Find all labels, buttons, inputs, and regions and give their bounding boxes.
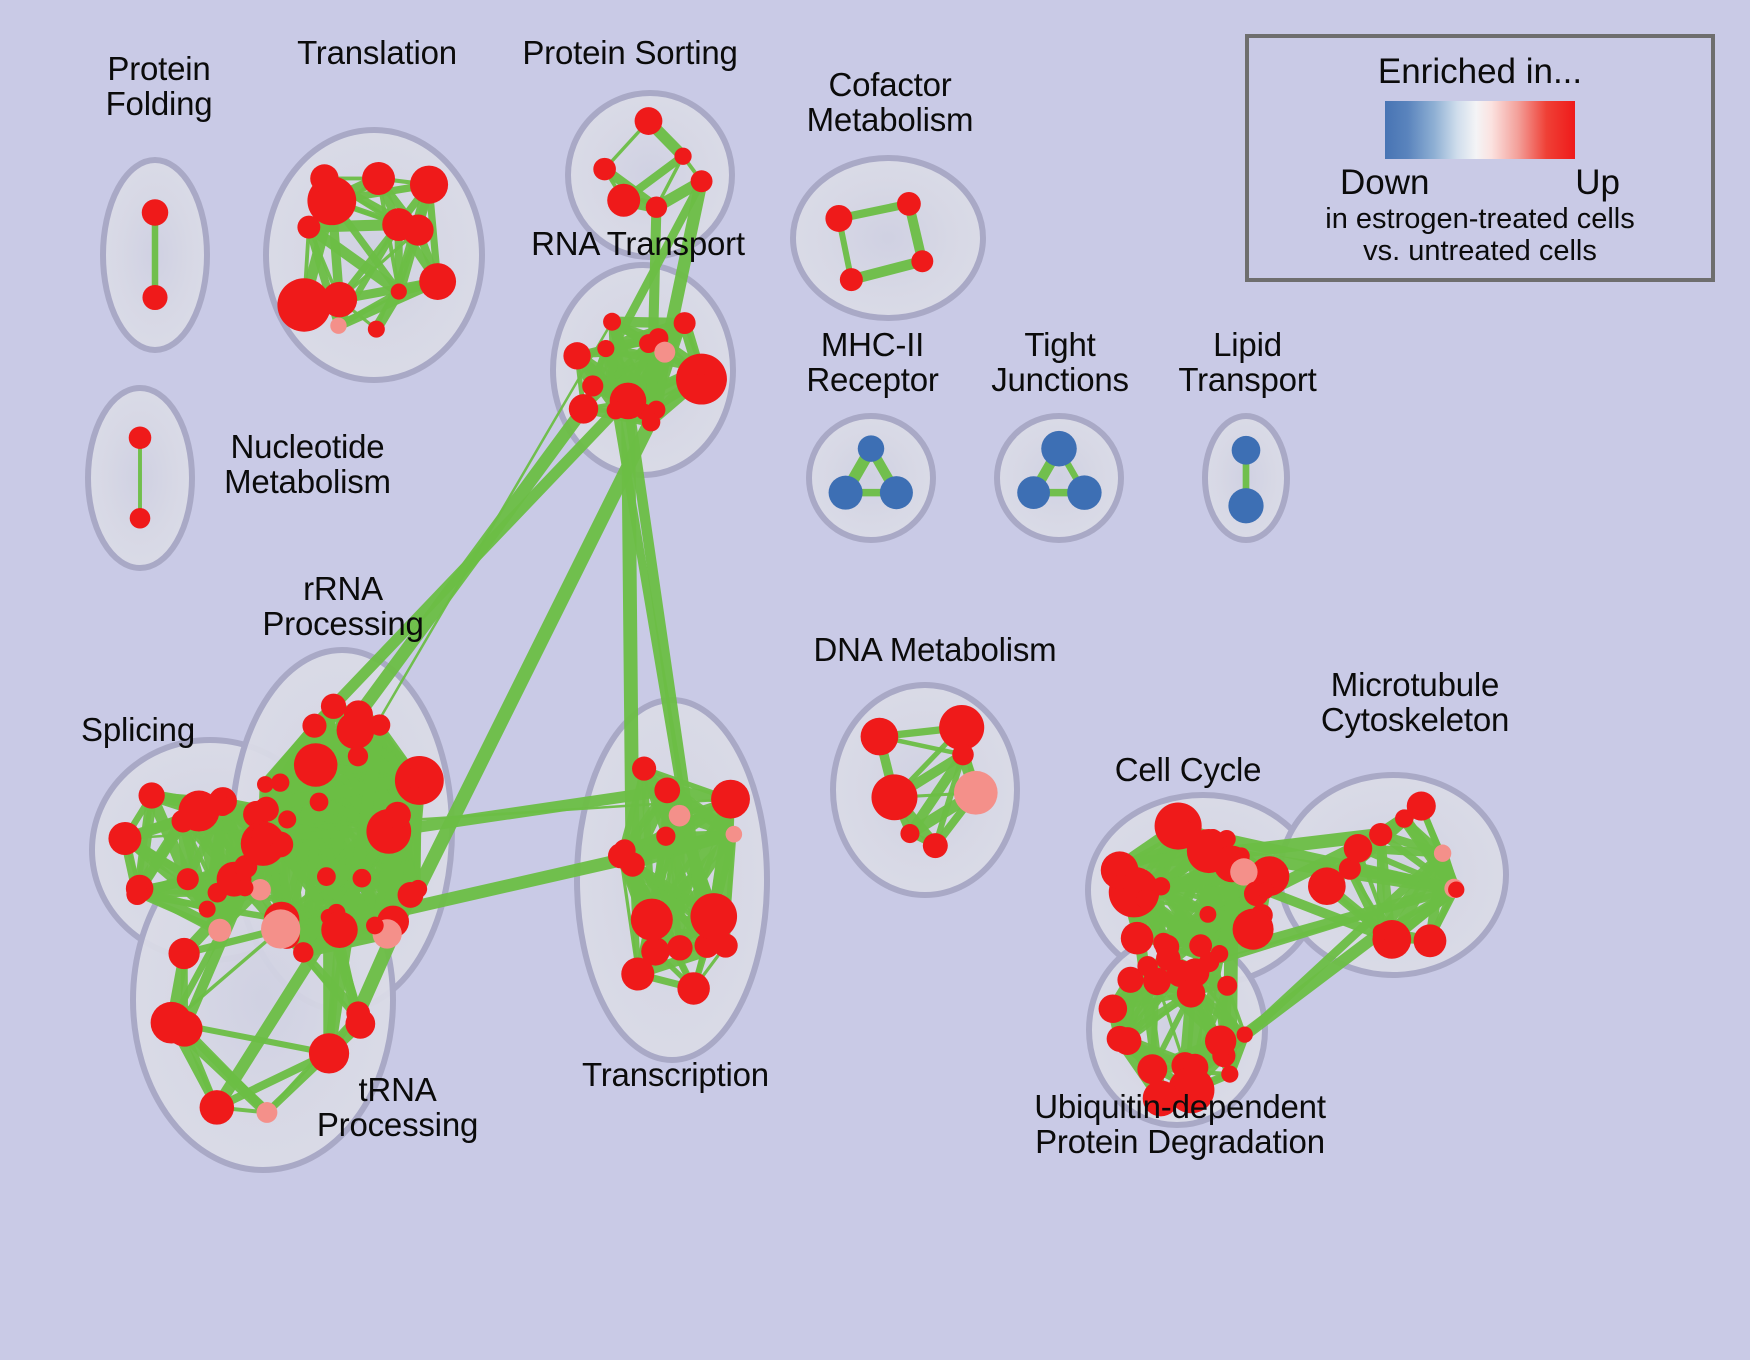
network-node[interactable] [126,883,148,905]
network-node[interactable] [593,158,616,181]
network-node[interactable] [1232,436,1261,465]
network-node[interactable] [310,164,338,192]
network-node[interactable] [1221,1066,1238,1083]
network-node[interactable] [419,263,456,300]
network-node[interactable] [261,909,300,948]
network-node[interactable] [348,746,368,766]
network-node[interactable] [1217,976,1237,996]
network-node[interactable] [646,196,667,217]
network-node[interactable] [939,705,984,750]
network-node[interactable] [302,714,326,738]
network-node[interactable] [384,802,411,829]
network-node[interactable] [278,810,296,828]
network-node[interactable] [582,375,603,396]
network-node[interactable] [1237,1026,1253,1042]
network-node[interactable] [690,893,737,940]
network-node[interactable] [1107,1026,1133,1052]
network-node[interactable] [402,215,433,246]
network-node[interactable] [621,957,654,990]
network-node[interactable] [1110,855,1132,877]
network-node[interactable] [1369,823,1392,846]
network-node[interactable] [321,694,346,719]
network-node[interactable] [880,476,913,509]
network-node[interactable] [167,1011,203,1047]
network-node[interactable] [1407,792,1436,821]
network-node[interactable] [674,312,696,334]
network-node[interactable] [353,869,372,888]
network-node[interactable] [108,822,141,855]
network-node[interactable] [726,826,743,843]
network-node[interactable] [294,743,338,787]
network-node[interactable] [871,774,917,820]
network-node[interactable] [656,827,675,846]
enrichment-map-figure: ProteinFolding Translation Protein Sorti… [0,0,1750,1360]
network-node[interactable] [1177,979,1205,1007]
cluster-ellipse-cofactor-metabolism [793,158,983,318]
network-node[interactable] [569,394,598,423]
network-node[interactable] [330,318,346,334]
network-node[interactable] [362,162,395,195]
network-node[interactable] [635,107,663,135]
network-node[interactable] [900,824,919,843]
network-node[interactable] [1099,994,1128,1023]
legend-caption-line-1: in estrogen-treated cells [1325,203,1635,235]
legend-color-gradient-bar [1385,101,1575,159]
network-node[interactable] [691,170,713,192]
network-edge [651,207,656,422]
network-node[interactable] [923,833,948,858]
network-node[interactable] [858,435,884,461]
network-node[interactable] [208,919,231,942]
network-node[interactable] [139,782,165,808]
network-node[interactable] [669,805,691,827]
legend-endpoint-labels: Down Up [1340,163,1620,203]
network-node[interactable] [1041,431,1077,467]
network-node[interactable] [168,938,199,969]
network-node[interactable] [337,712,375,750]
network-node[interactable] [1344,834,1373,863]
network-node[interactable] [200,1090,235,1125]
network-node[interactable] [410,166,448,204]
network-node[interactable] [1434,845,1451,862]
network-node[interactable] [213,797,232,816]
network-node[interactable] [654,778,680,804]
network-node[interactable] [1257,882,1274,899]
network-node[interactable] [366,917,384,935]
network-node[interactable] [142,199,169,226]
network-node[interactable] [608,843,633,868]
network-node[interactable] [142,285,167,310]
legend-low-label: Down [1340,163,1429,203]
network-node[interactable] [256,1102,277,1123]
network-node[interactable] [345,1009,375,1039]
network-node[interactable] [677,972,709,1004]
network-node[interactable] [1152,877,1170,895]
legend-high-label: Up [1575,163,1620,203]
network-node[interactable] [129,426,152,449]
network-node[interactable] [251,824,275,848]
network-node[interactable] [1199,906,1216,923]
network-node[interactable] [861,718,899,756]
network-node[interactable] [1218,830,1236,848]
network-node[interactable] [257,776,274,793]
network-node[interactable] [409,880,427,898]
network-node[interactable] [1448,881,1464,897]
network-node[interactable] [952,744,974,766]
legend-title: Enriched in... [1378,52,1582,92]
network-node[interactable] [954,771,998,815]
network-node[interactable] [1143,1080,1179,1116]
network-node[interactable] [368,321,385,338]
network-node[interactable] [1067,475,1101,509]
network-node[interactable] [563,342,590,369]
network-node[interactable] [321,911,358,948]
network-node[interactable] [632,757,656,781]
network-node[interactable] [1205,1025,1236,1056]
network-node[interactable] [711,780,750,819]
network-node[interactable] [254,797,278,821]
network-node[interactable] [310,793,329,812]
network-node[interactable] [199,901,216,918]
network-node[interactable] [911,250,933,272]
network-node[interactable] [1228,488,1263,523]
network-node[interactable] [1137,1054,1167,1084]
network-node[interactable] [667,935,692,960]
network-node[interactable] [840,268,863,291]
network-node[interactable] [1373,924,1389,940]
network-node[interactable] [391,283,407,299]
network-node[interactable] [271,773,289,791]
network-node[interactable] [607,401,625,419]
cluster-ellipse-mhc-ii-receptor [809,416,933,540]
network-node[interactable] [825,205,852,232]
network-node[interactable] [597,340,614,357]
network-node[interactable] [317,867,336,886]
network-node[interactable] [1017,476,1050,509]
network-node[interactable] [1230,858,1257,885]
network-node[interactable] [603,313,621,331]
network-node[interactable] [130,508,151,529]
legend-caption-line-2: vs. untreated cells [1363,235,1597,267]
network-node[interactable] [208,883,228,903]
network-node[interactable] [1414,924,1447,957]
network-edge [358,322,612,756]
network-node[interactable] [293,942,313,962]
network-node[interactable] [309,1033,349,1073]
network-node[interactable] [1233,909,1274,950]
network-node[interactable] [277,278,330,331]
network-node[interactable] [829,476,863,510]
network-node[interactable] [631,899,673,941]
network-node[interactable] [177,868,199,890]
network-node[interactable] [674,148,691,165]
network-node[interactable] [897,192,921,216]
network-node[interactable] [607,184,640,217]
legend-panel: Enriched in... Down Up in estrogen-treat… [1245,34,1715,282]
network-node[interactable] [654,342,675,363]
network-node[interactable] [1121,922,1154,955]
network-node[interactable] [404,768,425,789]
network-node[interactable] [693,359,709,375]
network-node[interactable] [236,879,253,896]
